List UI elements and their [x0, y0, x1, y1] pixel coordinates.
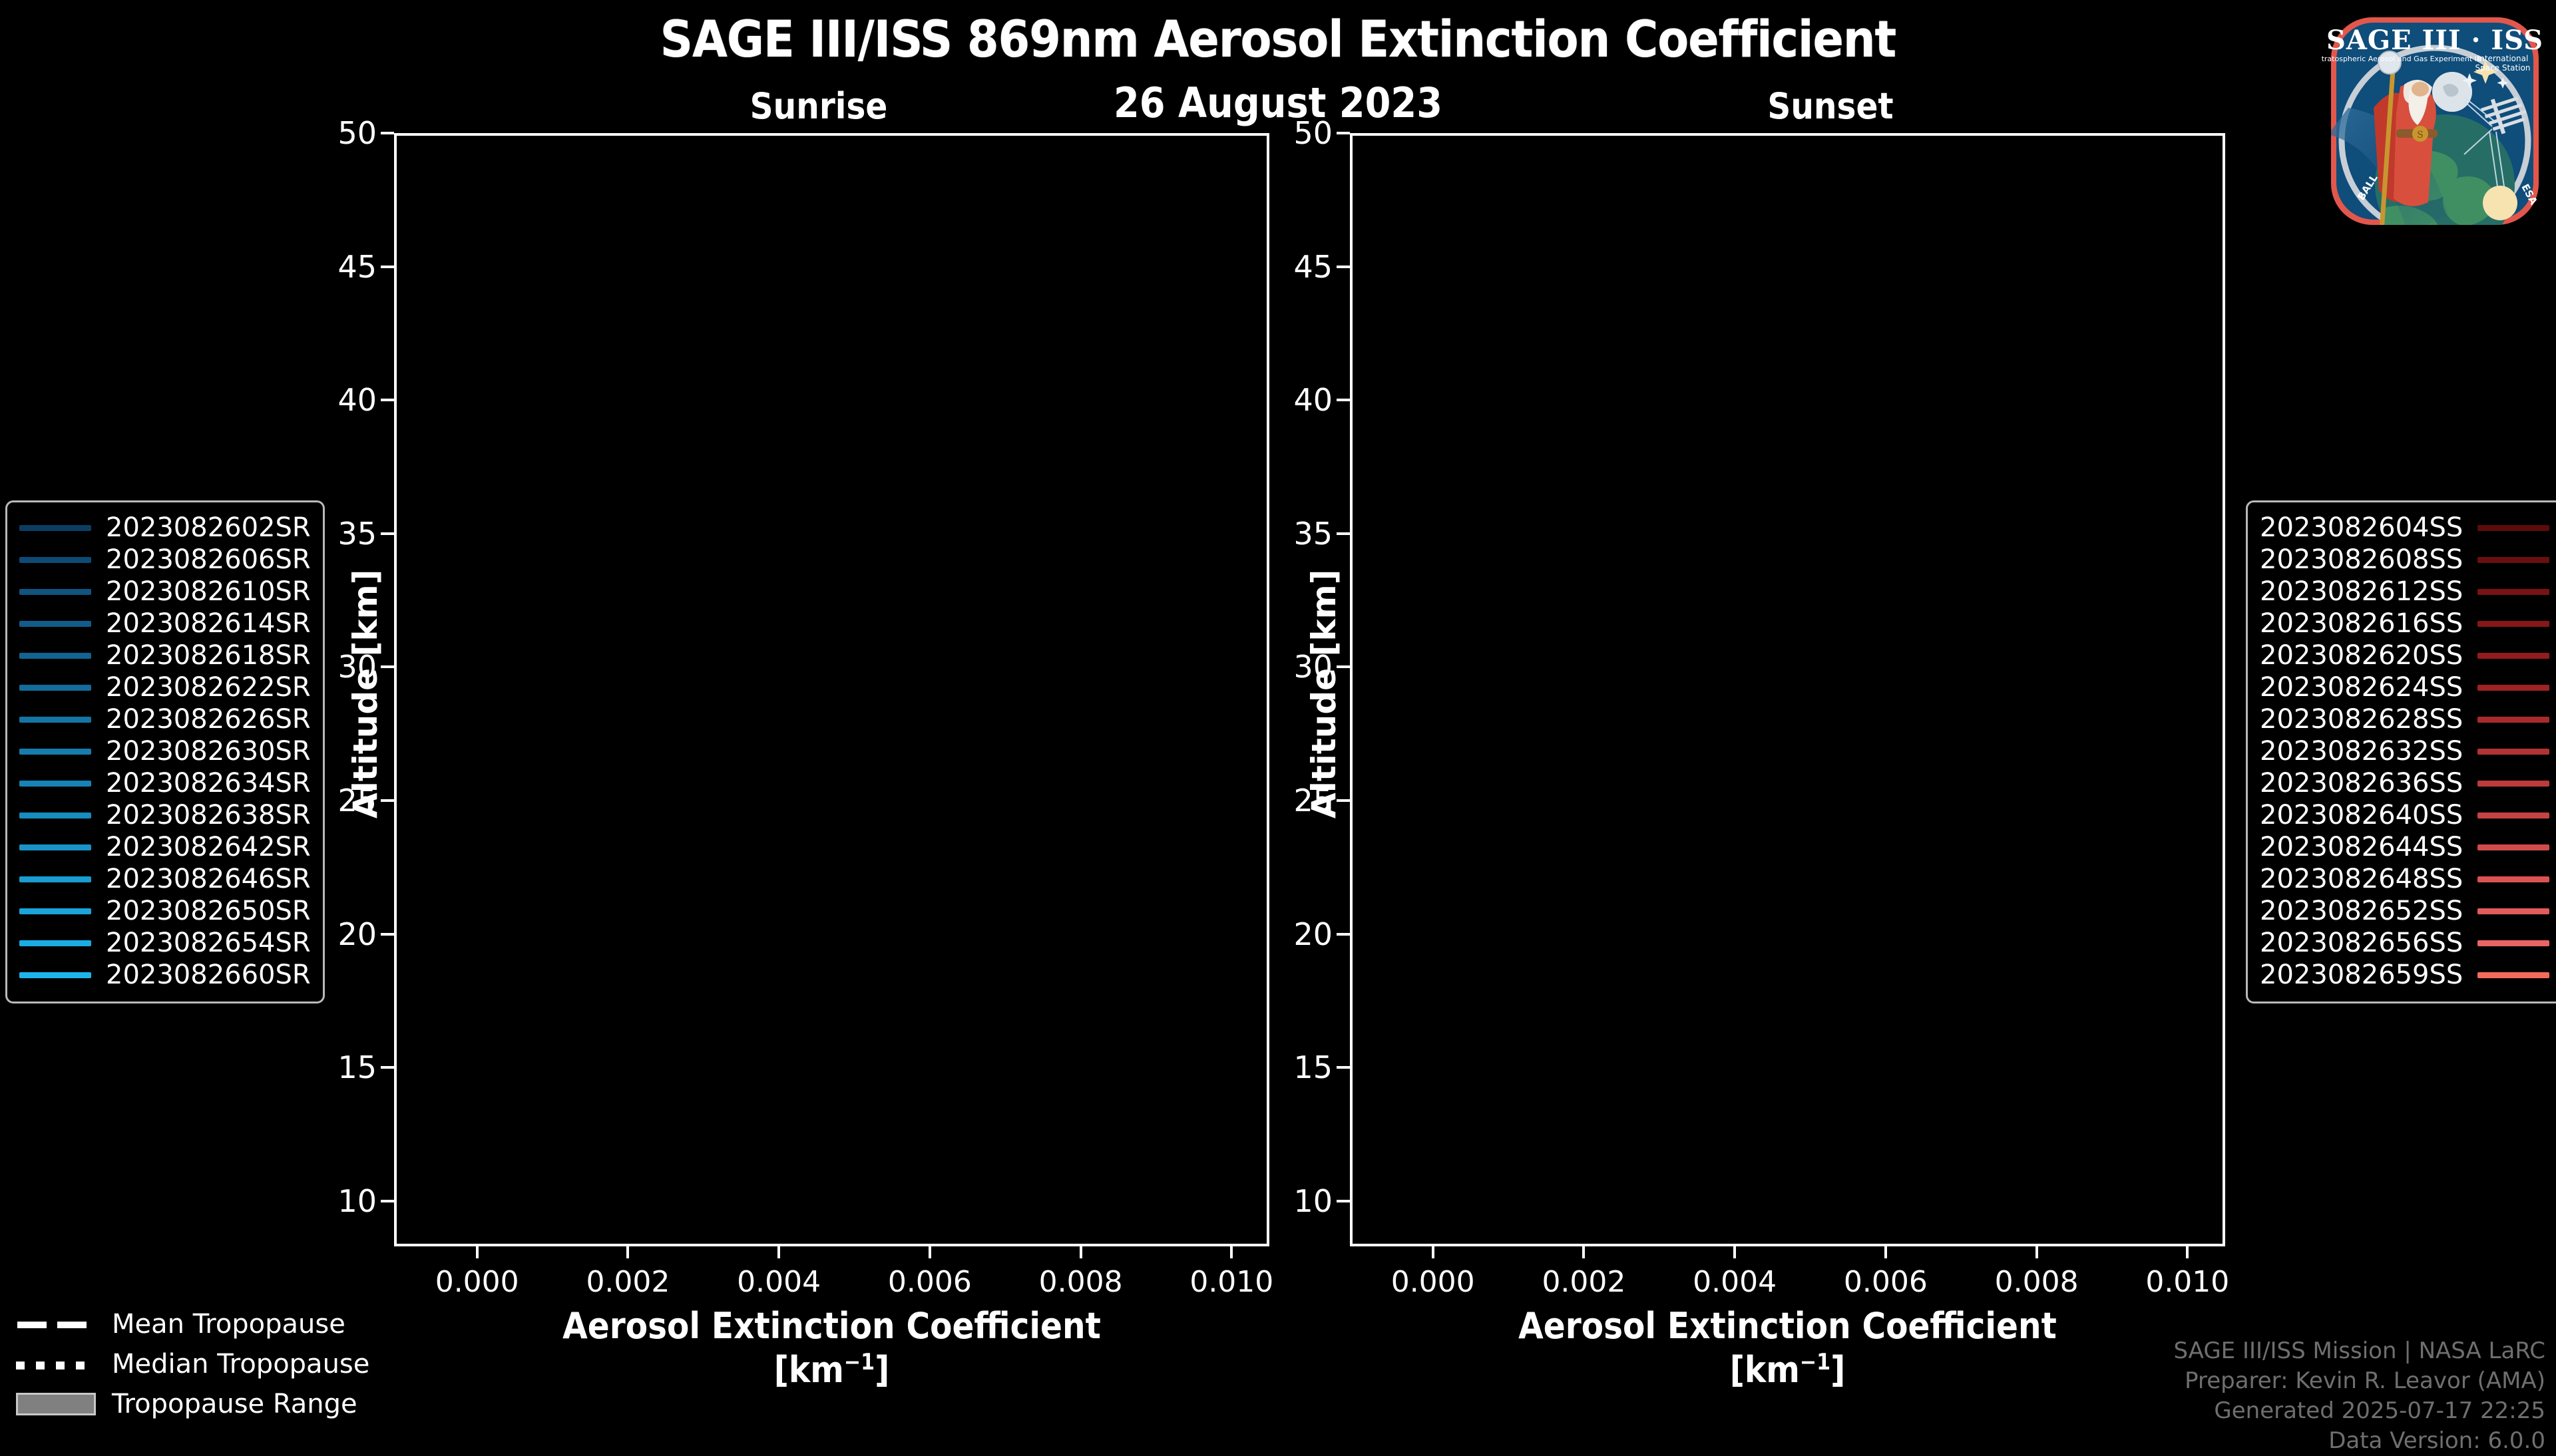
footer-line: Data Version: 6.0.0	[2173, 1426, 2545, 1456]
x-tick-mark	[476, 1246, 479, 1258]
x-tick-mark	[1432, 1246, 1434, 1258]
panel-title-sunrise: Sunrise	[586, 85, 1052, 127]
x-tick-label: 0.000	[435, 1265, 519, 1299]
tropopause-range-swatch	[16, 1393, 96, 1415]
x-tick-mark	[1733, 1246, 1736, 1258]
footer-credits: SAGE III/ISS Mission | NASA LaRCPreparer…	[2173, 1336, 2545, 1456]
y-tick-label: 20	[1293, 916, 1333, 952]
legend-item-label: 2023082634SR	[106, 768, 311, 799]
legend-item-label: 2023082620SS	[2260, 640, 2463, 671]
legend-sunrise-item[interactable]: 2023082638SR	[19, 799, 311, 831]
legend-sunset-item[interactable]: 2023082656SS	[2260, 927, 2549, 959]
legend-item-label: 2023082650SR	[106, 896, 311, 926]
legend-item-label: 2023082622SR	[106, 672, 311, 703]
panel-title-sunset: Sunset	[1597, 85, 2063, 127]
y-tick-mark	[381, 399, 394, 401]
legend-sunset-item[interactable]: 2023082604SS	[2260, 512, 2549, 544]
legend-color-swatch	[19, 749, 91, 755]
sunrise-x-axis-label-line1: Aerosol Extinction Coefficient	[394, 1304, 1269, 1348]
legend-color-swatch	[19, 940, 91, 946]
legend-item-label: 2023082642SR	[106, 832, 311, 862]
logo-title: SAGE III · ISS	[2326, 25, 2543, 56]
legend-color-swatch	[19, 557, 91, 563]
legend-item-label: 2023082626SR	[106, 704, 311, 735]
legend-sunset-item[interactable]: 2023082640SS	[2260, 799, 2549, 831]
legend-color-swatch	[2477, 685, 2549, 691]
x-tick-label: 0.000	[1391, 1265, 1475, 1299]
sunset-x-axis-label-line2: [km−1]	[1350, 1348, 2225, 1392]
legend-sunrise-item[interactable]: 2023082630SR	[19, 735, 311, 767]
sage-iii-iss-mission-patch-icon: S SAGE III · ISS Stratospheric Aerosol a…	[2322, 8, 2548, 234]
x-tick-label: 0.002	[1542, 1265, 1625, 1299]
legend-sunrise[interactable]: 2023082602SR2023082606SR2023082610SR2023…	[5, 500, 325, 1003]
logo-subtitle-right-2: Space Station	[2475, 63, 2530, 73]
legend-sunrise-item[interactable]: 2023082602SR	[19, 512, 311, 544]
sunset-x-axis-label-line1: Aerosol Extinction Coefficient	[1350, 1304, 2225, 1348]
legend-color-swatch	[2477, 781, 2549, 787]
y-tick-mark	[1337, 399, 1350, 401]
legend-color-swatch	[19, 972, 91, 978]
legend-color-swatch	[2477, 844, 2549, 850]
y-tick-mark	[1337, 132, 1350, 134]
legend-item-label: 2023082606SR	[106, 544, 311, 575]
legend-item-label: 2023082640SS	[2260, 800, 2463, 830]
legend-color-swatch	[19, 813, 91, 819]
legend-color-swatch	[19, 525, 91, 531]
legend-item-label: 2023082648SS	[2260, 864, 2463, 894]
legend-sunset-item[interactable]: 2023082632SS	[2260, 735, 2549, 767]
legend-color-swatch	[19, 653, 91, 659]
tropopause-legend-item[interactable]: Median Tropopause	[16, 1344, 369, 1384]
legend-item-label: 2023082630SR	[106, 736, 311, 767]
legend-color-swatch	[2477, 525, 2549, 531]
x-tick-mark	[2035, 1246, 2038, 1258]
legend-sunset-item[interactable]: 2023082616SS	[2260, 608, 2549, 639]
y-tick-label: 15	[1293, 1049, 1333, 1085]
legend-item-label: 2023082646SR	[106, 864, 311, 894]
x-tick-label: 0.010	[1189, 1265, 1273, 1299]
y-tick-mark	[381, 532, 394, 535]
x-tick-label: 0.002	[586, 1265, 670, 1299]
legend-sunset-item[interactable]: 2023082620SS	[2260, 639, 2549, 671]
legend-color-swatch	[2477, 653, 2549, 659]
legend-sunrise-item[interactable]: 2023082614SR	[19, 608, 311, 639]
y-tick-mark	[1337, 266, 1350, 268]
tropopause-legend-label: Tropopause Range	[112, 1389, 357, 1419]
y-tick-label: 50	[337, 115, 377, 151]
x-tick-label: 0.006	[888, 1265, 972, 1299]
legend-sunset-item[interactable]: 2023082644SS	[2260, 831, 2549, 863]
y-tick-label: 15	[337, 1049, 377, 1085]
legend-color-swatch	[2477, 813, 2549, 819]
y-tick-label: 40	[337, 382, 377, 418]
legend-item-label: 2023082656SS	[2260, 928, 2463, 958]
sunset-plot-frame	[1350, 133, 2225, 1246]
legend-color-swatch	[19, 621, 91, 627]
x-tick-mark	[1080, 1246, 1082, 1258]
svg-text:S: S	[2417, 130, 2424, 140]
sunset-x-axis-label: Aerosol Extinction Coefficient [km−1]	[1350, 1304, 2225, 1392]
y-tick-label: 10	[337, 1183, 377, 1219]
legend-color-swatch	[19, 844, 91, 850]
legend-item-label: 2023082652SS	[2260, 896, 2463, 926]
tropopause-legend-label: Median Tropopause	[112, 1349, 369, 1379]
x-tick-label: 0.004	[1693, 1265, 1777, 1299]
legend-item-label: 2023082604SS	[2260, 512, 2463, 543]
x-tick-mark	[2186, 1246, 2189, 1258]
legend-sunrise-item[interactable]: 2023082634SR	[19, 767, 311, 799]
plot-sunrise: 101520253035404550 0.0000.0020.0040.0060…	[394, 133, 1269, 1246]
legend-sunrise-item[interactable]: 2023082646SR	[19, 863, 311, 895]
legend-color-swatch	[19, 589, 91, 595]
x-tick-mark	[1230, 1246, 1233, 1258]
legend-item-label: 2023082612SS	[2260, 576, 2463, 607]
legend-color-swatch	[19, 781, 91, 787]
legend-sunrise-item[interactable]: 2023082626SR	[19, 703, 311, 735]
legend-item-label: 2023082602SR	[106, 512, 311, 543]
y-tick-label: 35	[1293, 516, 1333, 552]
x-tick-mark	[1884, 1246, 1887, 1258]
legend-sunset-item[interactable]: 2023082608SS	[2260, 544, 2549, 576]
legend-sunrise-item[interactable]: 2023082622SR	[19, 671, 311, 703]
legend-color-swatch	[19, 876, 91, 882]
y-tick-mark	[1337, 1066, 1350, 1069]
legend-sunset-item[interactable]: 2023082659SS	[2260, 959, 2549, 991]
x-tick-mark	[1582, 1246, 1585, 1258]
x-tick-label: 0.008	[1995, 1265, 2079, 1299]
legend-item-label: 2023082660SR	[106, 960, 311, 990]
y-tick-mark	[1337, 1200, 1350, 1202]
legend-color-swatch	[2477, 749, 2549, 755]
footer-line: Preparer: Kevin R. Leavor (AMA)	[2173, 1366, 2545, 1396]
x-tick-label: 0.008	[1039, 1265, 1123, 1299]
x-tick-label: 0.010	[2145, 1265, 2229, 1299]
legend-sunset-item[interactable]: 2023082648SS	[2260, 863, 2549, 895]
tropopause-legend-item[interactable]: Tropopause Range	[16, 1384, 369, 1424]
legend-color-swatch	[19, 717, 91, 723]
legend-item-label: 2023082644SS	[2260, 832, 2463, 862]
legend-color-swatch	[2477, 621, 2549, 627]
legend-sunset[interactable]: 2023082604SS2023082608SS2023082612SS2023…	[2246, 500, 2556, 1003]
plot-sunset: 101520253035404550 0.0000.0020.0040.0060…	[1350, 133, 2225, 1246]
x-tick-mark	[929, 1246, 931, 1258]
legend-sunrise-item[interactable]: 2023082610SR	[19, 576, 311, 608]
tropopause-legend-label: Mean Tropopause	[112, 1309, 345, 1340]
sunset-y-axis-label: Altitude [km]	[1305, 569, 1343, 819]
y-tick-mark	[381, 1066, 394, 1069]
y-tick-label: 45	[337, 249, 377, 285]
legend-color-swatch	[2477, 717, 2549, 723]
legend-sunrise-item[interactable]: 2023082650SR	[19, 895, 311, 927]
y-tick-mark	[381, 933, 394, 936]
footer-line: SAGE III/ISS Mission | NASA LaRC	[2173, 1336, 2545, 1366]
x-tick-mark	[626, 1246, 629, 1258]
logo-subtitle-left: Stratospheric Aerosol and Gas Experiment…	[2322, 55, 2481, 63]
legend-sunset-item[interactable]: 2023082612SS	[2260, 576, 2549, 608]
footer-line: Generated 2025-07-17 22:25	[2173, 1396, 2545, 1426]
y-tick-label: 50	[1293, 115, 1333, 151]
legend-item-label: 2023082616SS	[2260, 608, 2463, 639]
tropopause-legend-item[interactable]: Mean Tropopause	[16, 1304, 369, 1344]
legend-color-swatch	[2477, 908, 2549, 914]
legend-item-label: 2023082610SR	[106, 576, 311, 607]
legend-color-swatch	[2477, 557, 2549, 563]
mean-tropopause-swatch	[16, 1316, 96, 1333]
median-tropopause-swatch	[16, 1356, 96, 1373]
sunrise-y-axis-label: Altitude [km]	[346, 569, 385, 819]
y-tick-mark	[381, 1200, 394, 1202]
legend-item-label: 2023082654SR	[106, 928, 311, 958]
legend-item-label: 2023082636SS	[2260, 768, 2463, 799]
legend-item-label: 2023082632SS	[2260, 736, 2463, 767]
y-tick-mark	[1337, 532, 1350, 535]
legend-color-swatch	[19, 908, 91, 914]
legend-sunrise-item[interactable]: 2023082660SR	[19, 959, 311, 991]
sunrise-x-axis-label: Aerosol Extinction Coefficient [km−1]	[394, 1304, 1269, 1392]
x-tick-label: 0.004	[737, 1265, 821, 1299]
y-tick-mark	[381, 266, 394, 268]
y-tick-label: 20	[337, 916, 377, 952]
legend-item-label: 2023082618SR	[106, 640, 311, 671]
logo-subtitle-right-1: International	[2477, 54, 2529, 63]
y-tick-mark	[381, 132, 394, 134]
y-tick-label: 35	[337, 516, 377, 552]
legend-color-swatch	[2477, 940, 2549, 946]
page-title: SAGE III/ISS 869nm Aerosol Extinction Co…	[0, 9, 2556, 69]
legend-color-swatch	[19, 685, 91, 691]
x-tick-mark	[777, 1246, 780, 1258]
legend-item-label: 2023082608SS	[2260, 544, 2463, 575]
legend-item-label: 2023082614SR	[106, 608, 311, 639]
y-tick-label: 40	[1293, 382, 1333, 418]
sunrise-plot-frame	[394, 133, 1269, 1246]
x-tick-label: 0.006	[1844, 1265, 1928, 1299]
tropopause-legend[interactable]: Mean TropopauseMedian TropopauseTropopau…	[16, 1304, 369, 1424]
y-tick-mark	[1337, 933, 1350, 936]
legend-color-swatch	[2477, 972, 2549, 978]
legend-sunset-item[interactable]: 2023082624SS	[2260, 671, 2549, 703]
y-tick-label: 10	[1293, 1183, 1333, 1219]
legend-item-label: 2023082659SS	[2260, 960, 2463, 990]
legend-sunset-item[interactable]: 2023082636SS	[2260, 767, 2549, 799]
legend-sunrise-item[interactable]: 2023082618SR	[19, 639, 311, 671]
sunrise-x-axis-label-line2: [km−1]	[394, 1348, 1269, 1392]
y-tick-label: 45	[1293, 249, 1333, 285]
legend-sunrise-item[interactable]: 2023082642SR	[19, 831, 311, 863]
legend-sunset-item[interactable]: 2023082652SS	[2260, 895, 2549, 927]
legend-color-swatch	[2477, 876, 2549, 882]
legend-sunrise-item[interactable]: 2023082606SR	[19, 544, 311, 576]
legend-color-swatch	[2477, 589, 2549, 595]
legend-item-label: 2023082628SS	[2260, 704, 2463, 735]
legend-item-label: 2023082638SR	[106, 800, 311, 830]
page-subtitle: 26 August 2023	[0, 79, 2556, 127]
legend-sunrise-item[interactable]: 2023082654SR	[19, 927, 311, 959]
legend-item-label: 2023082624SS	[2260, 672, 2463, 703]
legend-sunset-item[interactable]: 2023082628SS	[2260, 703, 2549, 735]
